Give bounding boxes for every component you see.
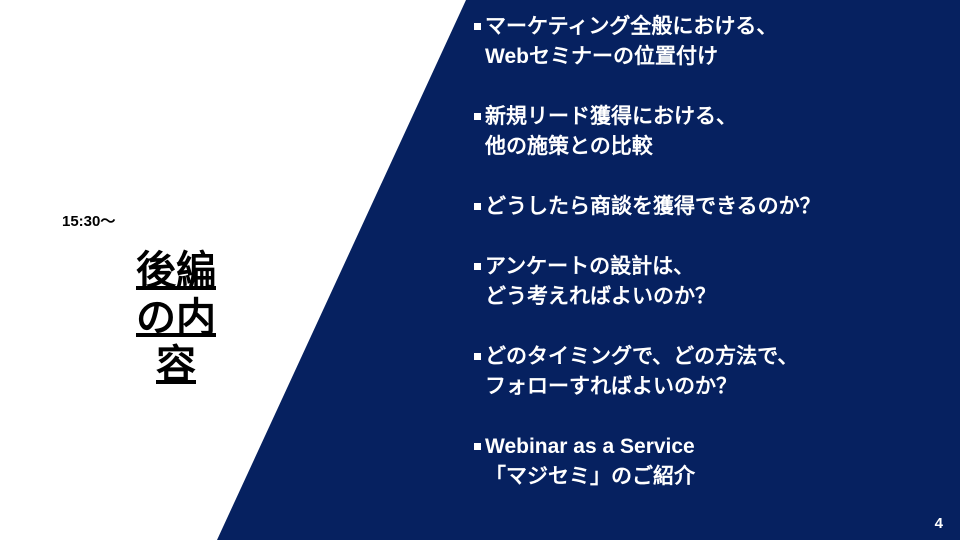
- square-bullet-icon: [474, 443, 481, 450]
- square-bullet-icon: [474, 263, 481, 270]
- left-title-block: 15:30〜 後編の内容: [0, 0, 300, 540]
- square-bullet-icon: [474, 203, 481, 210]
- list-item-label: アンケートの設計は、 どう考えればよいのか？: [485, 252, 716, 312]
- list-item: どうしたら商談を獲得できるのか？: [474, 192, 821, 222]
- time-label: 15:30〜: [62, 210, 115, 231]
- bullet-list: マーケティング全般における、 Webセミナーの位置付け 新規リード獲得における、…: [474, 0, 944, 540]
- section-title: 後編の内容: [120, 248, 232, 389]
- list-item: アンケートの設計は、 どう考えればよいのか？: [474, 252, 716, 312]
- list-item-label: Webinar as a Service 「マジセミ」のご紹介: [485, 432, 695, 492]
- square-bullet-icon: [474, 113, 481, 120]
- page-number: 4: [935, 515, 943, 532]
- square-bullet-icon: [474, 353, 481, 360]
- slide-canvas: 15:30〜 後編の内容 マーケティング全般における、 Webセミナーの位置付け…: [0, 0, 960, 540]
- square-bullet-icon: [474, 23, 481, 30]
- list-item-label: どうしたら商談を獲得できるのか？: [485, 192, 821, 222]
- list-item: 新規リード獲得における、 他の施策との比較: [474, 102, 737, 162]
- list-item-label: 新規リード獲得における、 他の施策との比較: [485, 102, 737, 162]
- list-item: どのタイミングで、どの方法で、 フォローすればよいのか？: [474, 342, 798, 402]
- list-item: マーケティング全般における、 Webセミナーの位置付け: [474, 12, 777, 72]
- list-item: Webinar as a Service 「マジセミ」のご紹介: [474, 432, 695, 492]
- list-item-label: マーケティング全般における、 Webセミナーの位置付け: [485, 12, 777, 72]
- list-item-label: どのタイミングで、どの方法で、 フォローすればよいのか？: [485, 342, 798, 402]
